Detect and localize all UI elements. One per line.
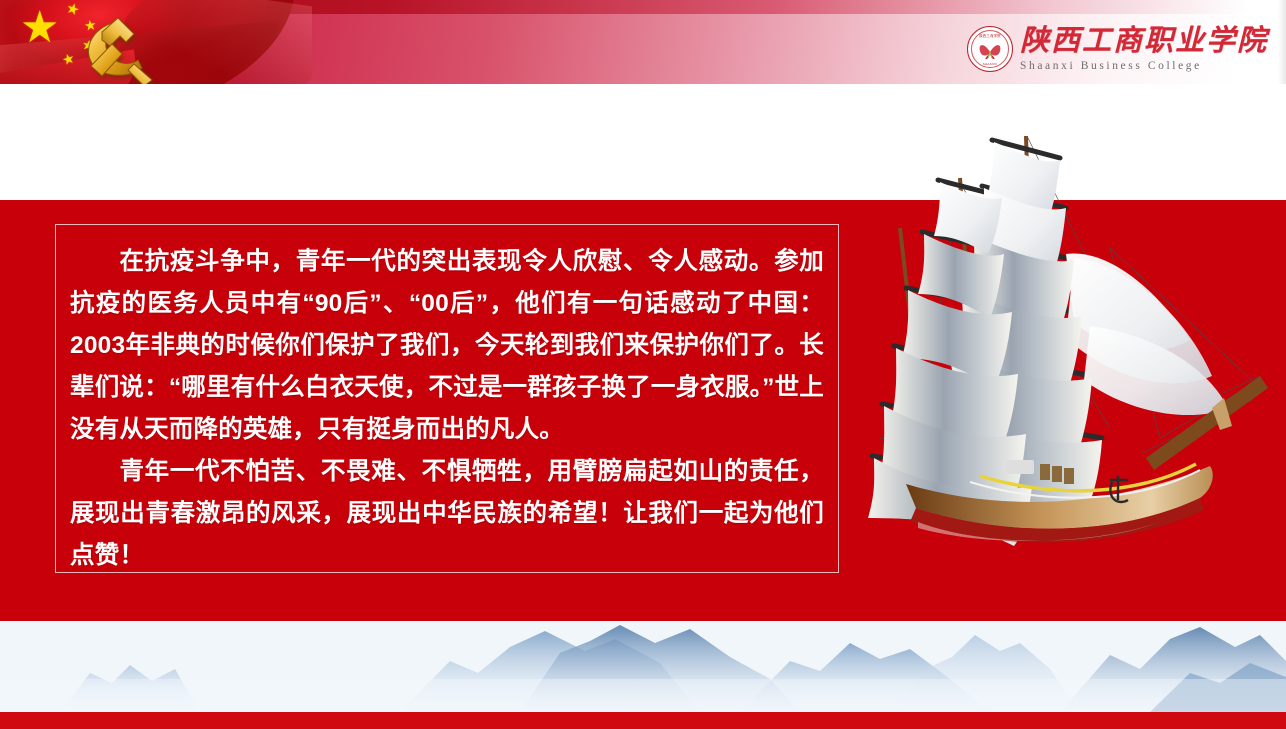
school-name-en: Shaanxi Business College: [1020, 60, 1268, 72]
misty-mountains-icon: [0, 621, 1286, 712]
seal-arc-bottom-text: SHAANXI: [968, 62, 1012, 66]
slide-canvas: ★ ★ ★ ★ ★: [0, 0, 1286, 729]
seal-butterfly-icon: [977, 40, 1003, 60]
paragraph-2-text: 青年一代不怕苦、不畏难、不惧牺牲，用臂膀扁起如山的责任，展现出青春激昂的风采，展…: [70, 458, 824, 569]
paragraph-1: 在抗疫斗争中，青年一代的突出表现令人欣慰、令人感动。参加抗疫的医务人员中有“90…: [70, 241, 824, 451]
seal-arc-top-text: 陕西工商学院: [968, 33, 1012, 38]
quote-text-box: 在抗疫斗争中，青年一代的突出表现令人欣慰、令人感动。参加抗疫的医务人员中有“90…: [55, 224, 839, 573]
bottom-red-band-lower: [0, 712, 1286, 729]
school-name-block: 陕西工商职业学院 Shaanxi Business College: [1020, 26, 1268, 71]
school-name-cn: 陕西工商职业学院: [1020, 26, 1268, 56]
school-logo: 陕西工商学院 SHAANXI 陕西工商职业学院 Shaanxi Business…: [967, 20, 1268, 78]
prc-flag-icon: ★ ★ ★ ★ ★: [0, 0, 312, 96]
bottom-red-band-upper: [0, 600, 1286, 621]
tall-sailing-ship-icon: [860, 108, 1280, 548]
school-seal-icon: 陕西工商学院 SHAANXI: [967, 26, 1013, 72]
hammer-and-sickle-emblem-icon: [72, 6, 168, 88]
paragraph-1-text: 在抗疫斗争中，青年一代的突出表现令人欣慰、令人感动。参加抗疫的医务人员中有“90…: [70, 248, 824, 443]
flag-star-large: ★: [20, 6, 59, 50]
paragraph-2: 青年一代不怕苦、不畏难、不惧牺牲，用臂膀扁起如山的责任，展现出青春激昂的风采，展…: [70, 451, 824, 577]
